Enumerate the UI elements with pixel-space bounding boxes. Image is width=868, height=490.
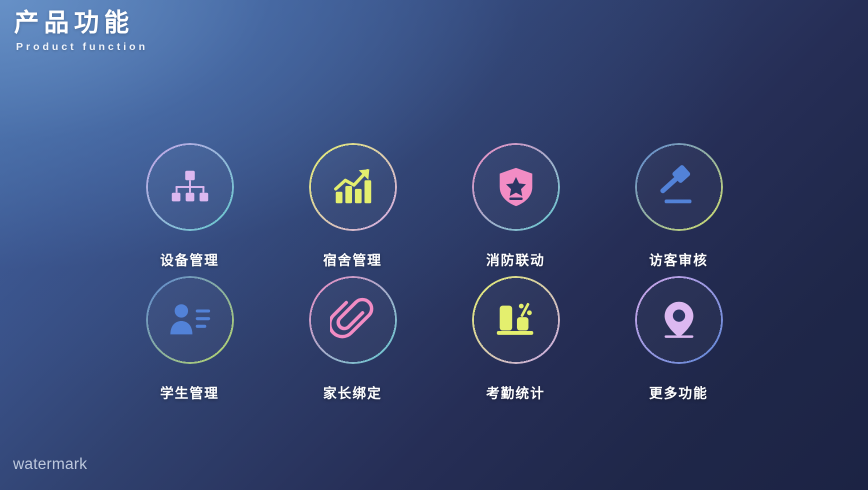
location-pin-icon	[656, 297, 702, 343]
feature-item-6[interactable]: 考勤统计	[434, 276, 597, 409]
feature-label: 家长绑定	[323, 382, 382, 402]
feature-item-1[interactable]: 宿舍管理	[271, 143, 434, 276]
feature-label: 学生管理	[160, 382, 219, 402]
feature-label: 消防联动	[486, 249, 545, 269]
watermark-label: watermark	[13, 456, 87, 474]
feature-item-2[interactable]: 消防联动	[434, 143, 597, 276]
gavel-icon	[656, 164, 702, 210]
feature-grid: 设备管理宿舍管理消防联动访客审核学生管理家长绑定考勤统计更多功能	[108, 143, 760, 409]
feature-item-7[interactable]: 更多功能	[597, 276, 760, 409]
bar-chart-growth-icon	[330, 164, 376, 210]
feature-label: 宿舍管理	[323, 249, 382, 269]
page-subtitle: Product function	[16, 41, 148, 53]
slide-header: 产品功能 Product function	[14, 8, 148, 53]
feature-label: 考勤统计	[486, 382, 545, 402]
slide-canvas: 产品功能 Product function 设备管理宿舍管理消防联动访客审核学生…	[0, 0, 868, 490]
page-title: 产品功能	[14, 8, 148, 39]
feature-icon-circle[interactable]	[309, 143, 397, 231]
feature-icon-circle[interactable]	[146, 143, 234, 231]
feature-icon-circle[interactable]	[146, 276, 234, 364]
attendance-bars-percent-icon	[493, 297, 539, 343]
feature-item-4[interactable]: 学生管理	[108, 276, 271, 409]
feature-icon-circle[interactable]	[635, 276, 723, 364]
feature-item-3[interactable]: 访客审核	[597, 143, 760, 276]
user-list-icon	[167, 297, 213, 343]
feature-item-5[interactable]: 家长绑定	[271, 276, 434, 409]
hierarchy-icon	[167, 164, 213, 210]
feature-icon-circle[interactable]	[472, 276, 560, 364]
feature-icon-circle[interactable]	[635, 143, 723, 231]
feature-item-0[interactable]: 设备管理	[108, 143, 271, 276]
feature-label: 访客审核	[649, 249, 708, 269]
shield-star-icon	[493, 164, 539, 210]
feature-label: 设备管理	[160, 249, 219, 269]
feature-label: 更多功能	[649, 382, 708, 402]
paperclip-icon	[330, 297, 376, 343]
feature-icon-circle[interactable]	[472, 143, 560, 231]
feature-icon-circle[interactable]	[309, 276, 397, 364]
